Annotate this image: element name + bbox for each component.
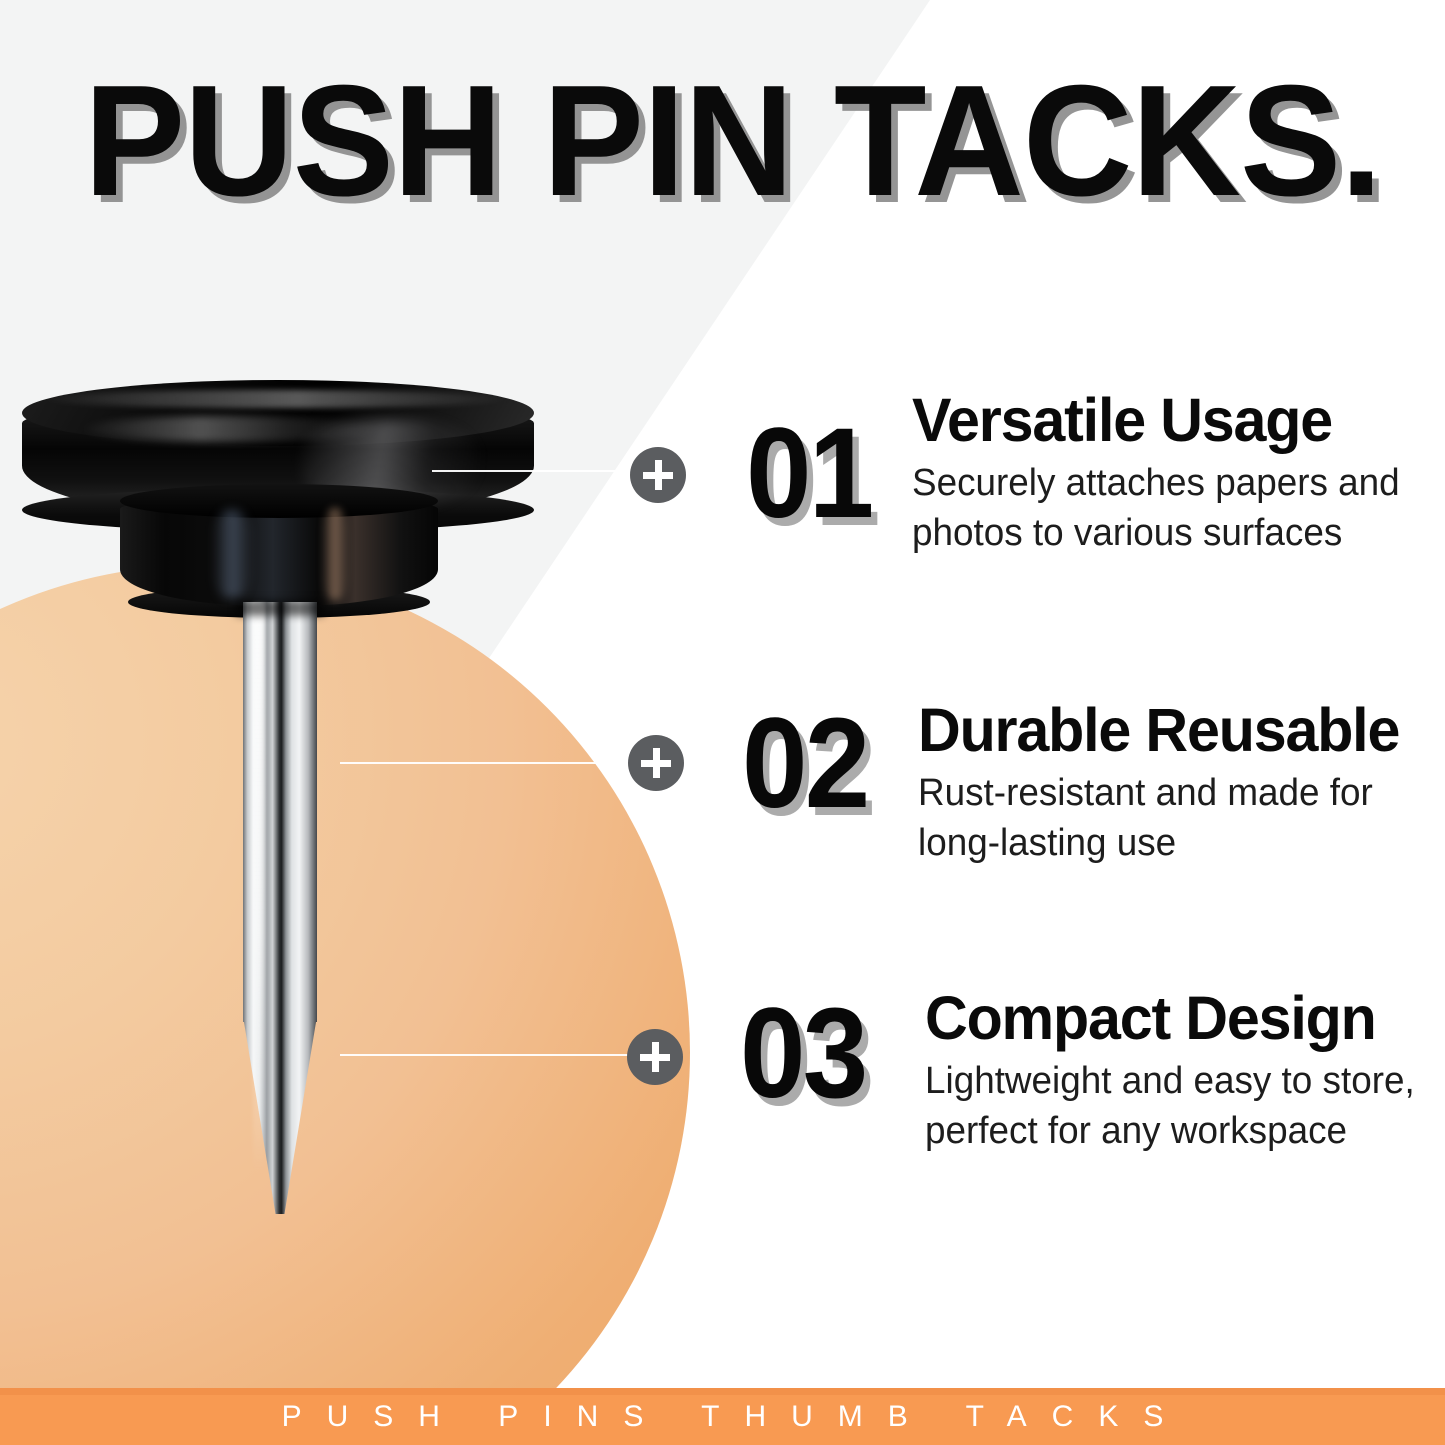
feature-body-line-1: Lightweight and easy to store,: [925, 1056, 1415, 1106]
feature-body-line-1: Securely attaches papers and: [912, 458, 1400, 508]
pin-shaft-contact-shadow: [236, 600, 324, 616]
feature-number-03: 03: [740, 990, 865, 1118]
feature-body-line-1: Rust-resistant and made for: [918, 768, 1373, 818]
footer-tagline: PUSH PINS THUMB TACKS: [0, 1388, 1445, 1445]
plus-icon[interactable]: [628, 735, 684, 791]
connector-line-02: [340, 762, 628, 764]
feature-body-line-2: photos to various surfaces: [912, 508, 1400, 558]
feature-heading-02: Durable Reusable: [918, 700, 1399, 761]
product-image-push-pin: [0, 380, 560, 1230]
feature-number-01: 01: [746, 410, 871, 538]
feature-heading-03: Compact Design: [925, 988, 1376, 1049]
plus-icon[interactable]: [630, 447, 686, 503]
plus-icon-vertical-bar: [652, 1042, 659, 1072]
feature-body-01: Securely attaches papers and photos to v…: [912, 458, 1400, 558]
pin-collar-gloss-warm: [322, 508, 348, 600]
pin-collar-top: [120, 484, 438, 518]
connector-line-03: [340, 1054, 628, 1056]
pin-collar-gloss-blue: [212, 510, 252, 598]
infographic-canvas: PUSH PIN TACKS. 01 Versatile Usage Secur…: [0, 0, 1445, 1445]
feature-number-02: 02: [742, 700, 867, 828]
connector-line-01: [432, 470, 628, 472]
plus-icon[interactable]: [627, 1029, 683, 1085]
feature-body-line-2: perfect for any workspace: [925, 1106, 1415, 1156]
plus-icon-vertical-bar: [655, 460, 662, 490]
feature-heading-01: Versatile Usage: [912, 390, 1332, 451]
plus-icon-vertical-bar: [653, 748, 660, 778]
feature-body-02: Rust-resistant and made for long-lasting…: [918, 768, 1373, 868]
feature-body-line-2: long-lasting use: [918, 818, 1373, 868]
feature-body-03: Lightweight and easy to store, perfect f…: [925, 1056, 1415, 1156]
pin-cap-rim-highlight: [40, 390, 510, 408]
footer-banner: PUSH PINS THUMB TACKS: [0, 1388, 1445, 1445]
pin-shaft-highlight: [253, 604, 265, 1204]
page-title: PUSH PIN TACKS.: [84, 62, 1381, 220]
